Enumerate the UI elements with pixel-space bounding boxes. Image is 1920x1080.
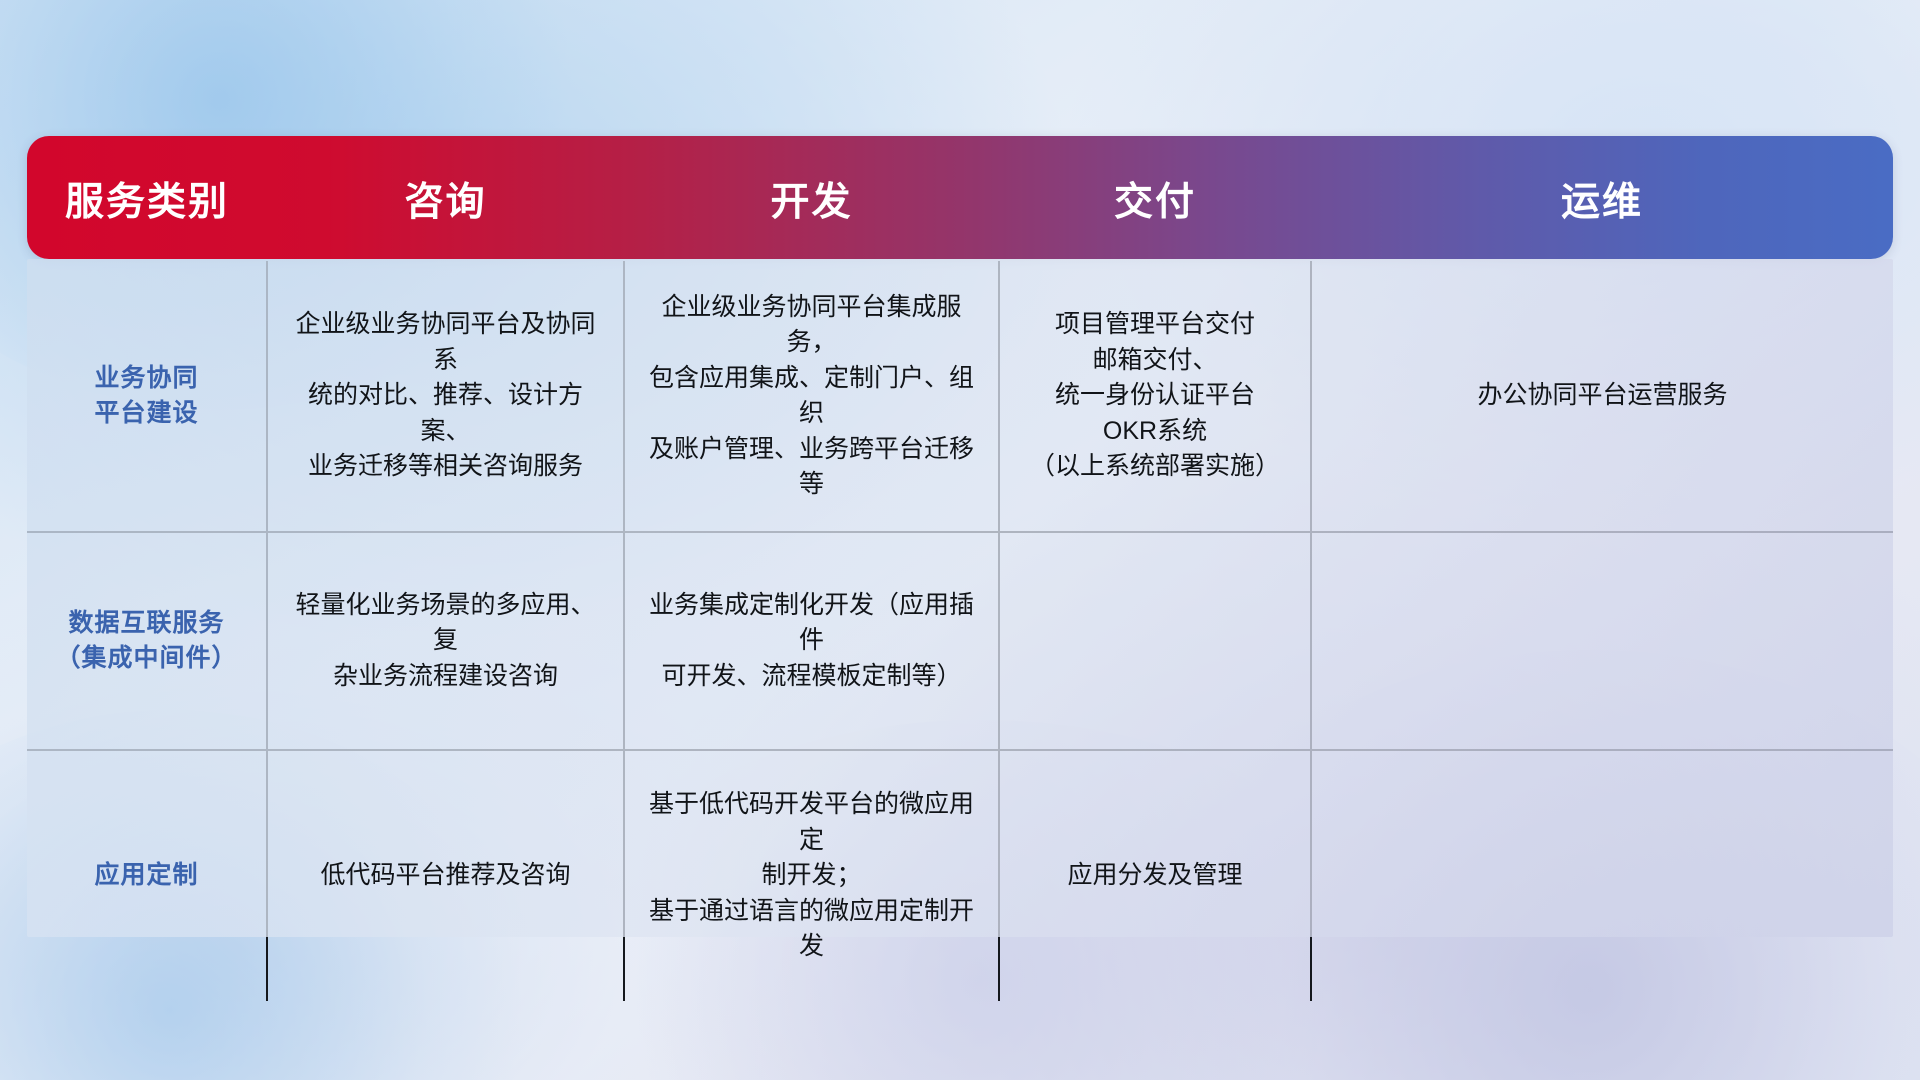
cell-delivery: 项目管理平台交付 邮箱交付、 统一身份认证平台 OKR系统 （以上系统部署实施） (999, 261, 1311, 532)
column-header-category[interactable]: 服务类别 (27, 136, 267, 261)
row-category-label: 应用定制 (27, 750, 267, 1001)
comparison-table: 服务类别 咨询 开发 交付 运维 业务协同 平台建设 企业级业务协同平台及协同系… (27, 136, 1893, 1001)
table-row: 业务协同 平台建设 企业级业务协同平台及协同系 统的对比、推荐、设计方案、 业务… (27, 261, 1893, 532)
cell-development: 业务集成定制化开发（应用插件 可开发、流程模板定制等） (624, 532, 999, 750)
row-category-label: 数据互联服务 （集成中间件） (27, 532, 267, 750)
column-header-consulting[interactable]: 咨询 (267, 136, 624, 261)
column-header-delivery[interactable]: 交付 (999, 136, 1311, 261)
cell-delivery (999, 532, 1311, 750)
cell-development: 企业级业务协同平台集成服务， 包含应用集成、定制门户、组织 及账户管理、业务跨平… (624, 261, 999, 532)
cell-consulting: 企业级业务协同平台及协同系 统的对比、推荐、设计方案、 业务迁移等相关咨询服务 (267, 261, 624, 532)
table-header-row: 服务类别 咨询 开发 交付 运维 (27, 136, 1893, 261)
cell-operations: 办公协同平台运营服务 (1311, 261, 1893, 532)
service-matrix-table: 服务类别 咨询 开发 交付 运维 业务协同 平台建设 企业级业务协同平台及协同系… (27, 136, 1893, 1001)
cell-operations (1311, 750, 1893, 1001)
cell-consulting: 轻量化业务场景的多应用、复 杂业务流程建设咨询 (267, 532, 624, 750)
cell-delivery: 应用分发及管理 (999, 750, 1311, 1001)
row-category-label: 业务协同 平台建设 (27, 261, 267, 532)
table-row: 应用定制 低代码平台推荐及咨询 基于低代码开发平台的微应用定 制开发； 基于通过… (27, 750, 1893, 1001)
column-header-operations[interactable]: 运维 (1311, 136, 1893, 261)
cell-consulting: 低代码平台推荐及咨询 (267, 750, 624, 1001)
cell-operations (1311, 532, 1893, 750)
table-row: 数据互联服务 （集成中间件） 轻量化业务场景的多应用、复 杂业务流程建设咨询 业… (27, 532, 1893, 750)
column-header-development[interactable]: 开发 (624, 136, 999, 261)
slide-canvas: 服务类别 咨询 开发 交付 运维 业务协同 平台建设 企业级业务协同平台及协同系… (0, 0, 1920, 1080)
cell-development: 基于低代码开发平台的微应用定 制开发； 基于通过语言的微应用定制开发 (624, 750, 999, 1001)
